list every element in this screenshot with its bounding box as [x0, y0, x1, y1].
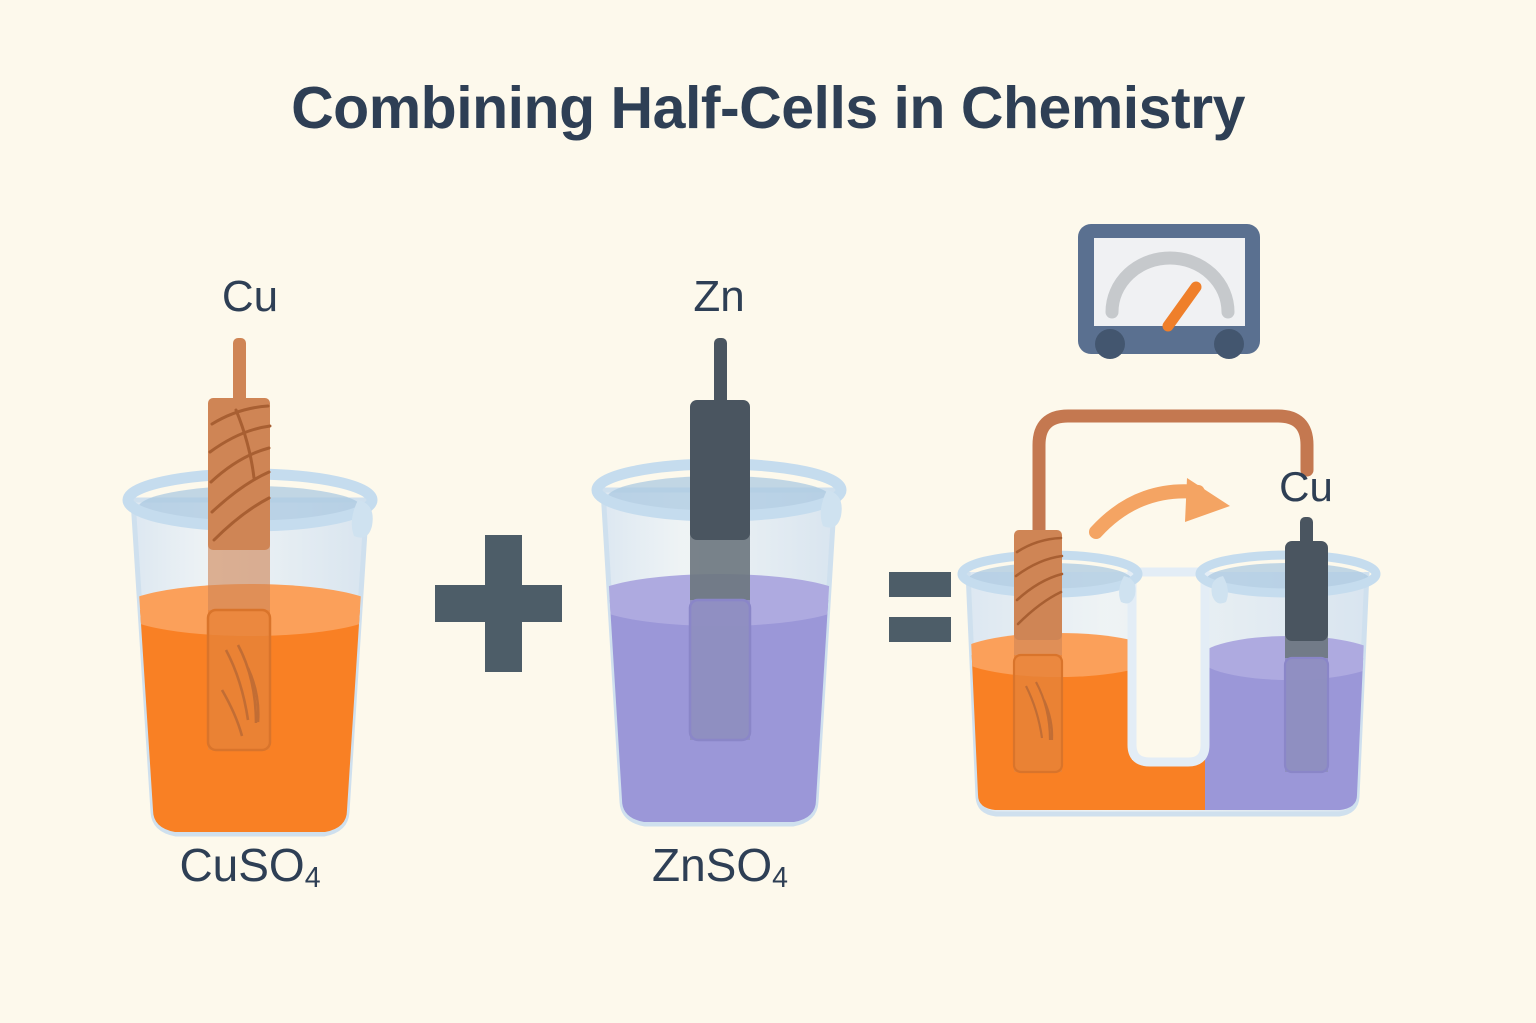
- copper-electrode-label-text: Cu: [150, 272, 350, 322]
- copper-electrode: [208, 338, 270, 550]
- half-cell-zinc: Zn: [589, 281, 855, 840]
- combined-right-electrode: [1285, 517, 1328, 641]
- plus-operator: [435, 535, 562, 672]
- zinc-electrode: [690, 338, 750, 540]
- copper-sulfate-label: CuSO4: [130, 838, 370, 892]
- combined-copper-electrode: [1014, 530, 1062, 640]
- voltmeter: V: [1078, 224, 1260, 359]
- zinc-sulfate-label: ZnSO4: [600, 838, 840, 892]
- electron-flow-arrow: [1096, 478, 1230, 532]
- illustration-canvas: Combining Half-Cells in Chemistry: [0, 0, 1536, 1023]
- equals-operator: [889, 572, 951, 642]
- half-cell-copper: Cu: [120, 281, 385, 850]
- voltmeter-terminal-left: [1095, 329, 1125, 359]
- zinc-electrode-label-text: Zn: [619, 272, 819, 322]
- voltmeter-terminal-right: [1214, 329, 1244, 359]
- combined-copper-label-text: Cu: [1246, 463, 1366, 511]
- salt-bridge: [1132, 572, 1205, 762]
